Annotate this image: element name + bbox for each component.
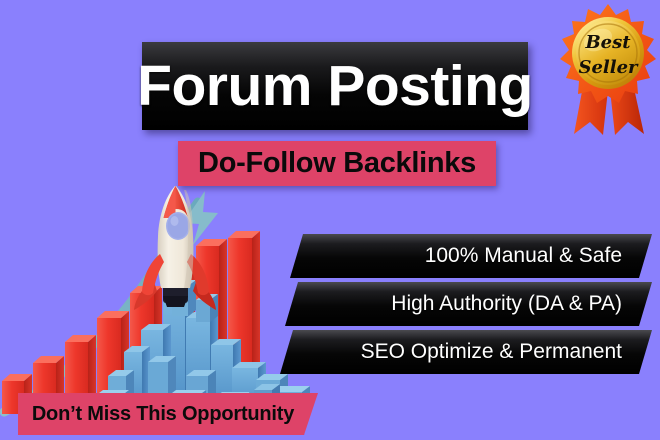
feature-label-1: 100% Manual & Safe [425,244,652,268]
title-bar: Forum Posting [142,42,528,130]
cta-banner: Don’t Miss This Opportunity [18,393,318,435]
feature-label-2: High Authority (DA & PA) [391,292,652,316]
feature-bar-3: SEO Optimize & Permanent [280,330,652,374]
poster-canvas: Forum Posting Do-Follow Backlinks 100% M… [0,0,660,440]
feature-label-3: SEO Optimize & Permanent [361,340,652,364]
subtitle-text: Do-Follow Backlinks [198,147,476,180]
feature-bar-2: High Authority (DA & PA) [285,282,652,326]
subtitle-bar: Do-Follow Backlinks [178,141,496,186]
best-seller-badge: Best Seller [560,2,656,142]
feature-bar-1: 100% Manual & Safe [290,234,652,278]
badge-rosette [560,4,656,103]
cta-banner-text: Don’t Miss This Opportunity [32,403,304,426]
page-title: Forum Posting [137,58,533,115]
badge-line-1: Best [584,32,631,53]
badge-line-2: Seller [578,57,639,78]
